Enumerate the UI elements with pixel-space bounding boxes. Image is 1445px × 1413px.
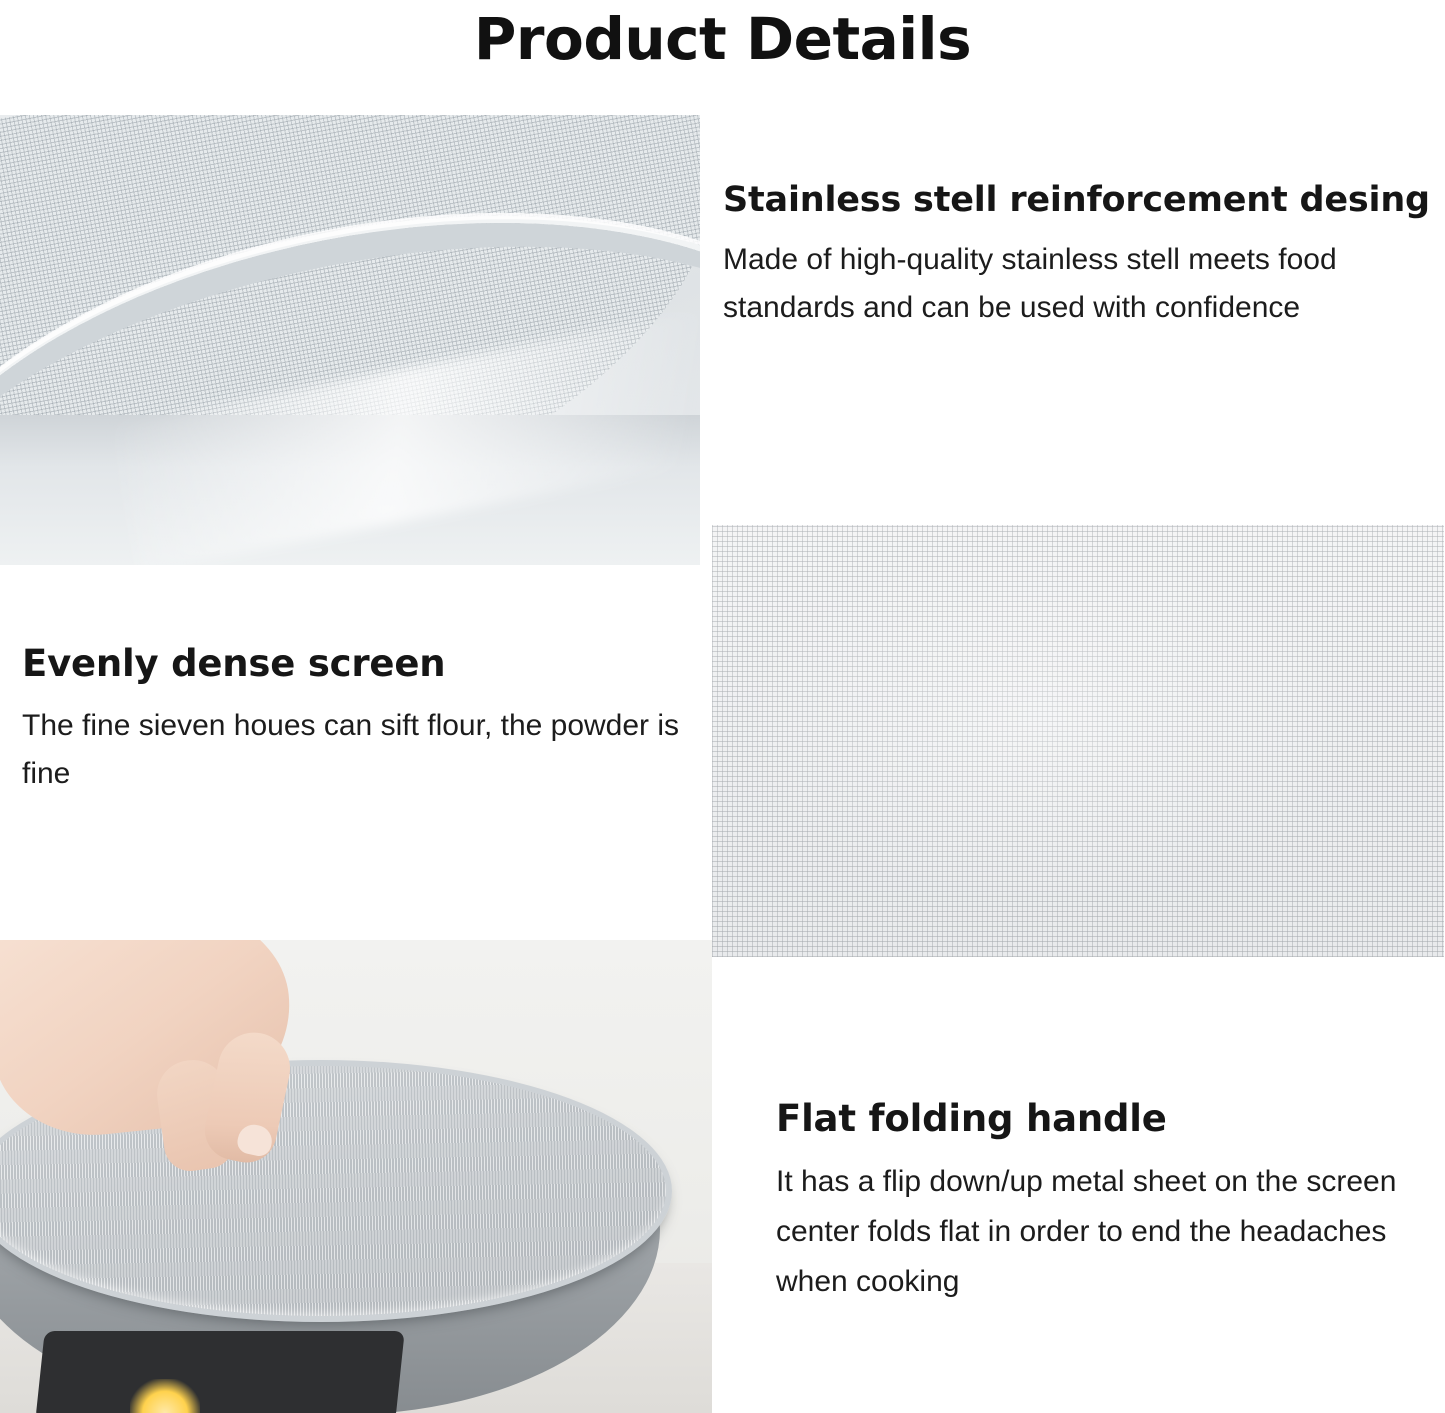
fine-mesh-closeup-photo	[712, 525, 1444, 957]
page-title: Product Details	[0, 0, 1445, 78]
feature-stainless-steel: Stainless stell reinforcement desing Mad…	[723, 178, 1445, 332]
feature-heading-dense-screen: Evenly dense screen	[22, 640, 682, 688]
feature-heading-folding-handle: Flat folding handle	[776, 1095, 1426, 1143]
feature-body-stainless-steel: Made of high-quality stainless stell mee…	[723, 236, 1363, 332]
gas-stove	[35, 1331, 404, 1413]
feature-folding-handle: Flat folding handle It has a flip down/u…	[776, 1095, 1426, 1307]
flame	[130, 1379, 200, 1413]
feature-body-folding-handle: It has a flip down/up metal sheet on the…	[776, 1157, 1426, 1307]
feature-heading-stainless-steel: Stainless stell reinforcement desing	[723, 178, 1445, 222]
feature-body-dense-screen: The fine sieven houes can sift flour, th…	[22, 702, 682, 798]
feature-dense-screen: Evenly dense screen The fine sieven houe…	[22, 640, 682, 798]
hand-lifting-splatter-screen-photo	[0, 940, 712, 1413]
mesh-lighting-overlay	[712, 525, 1444, 957]
stainless-steel-rim-photo	[0, 115, 700, 565]
